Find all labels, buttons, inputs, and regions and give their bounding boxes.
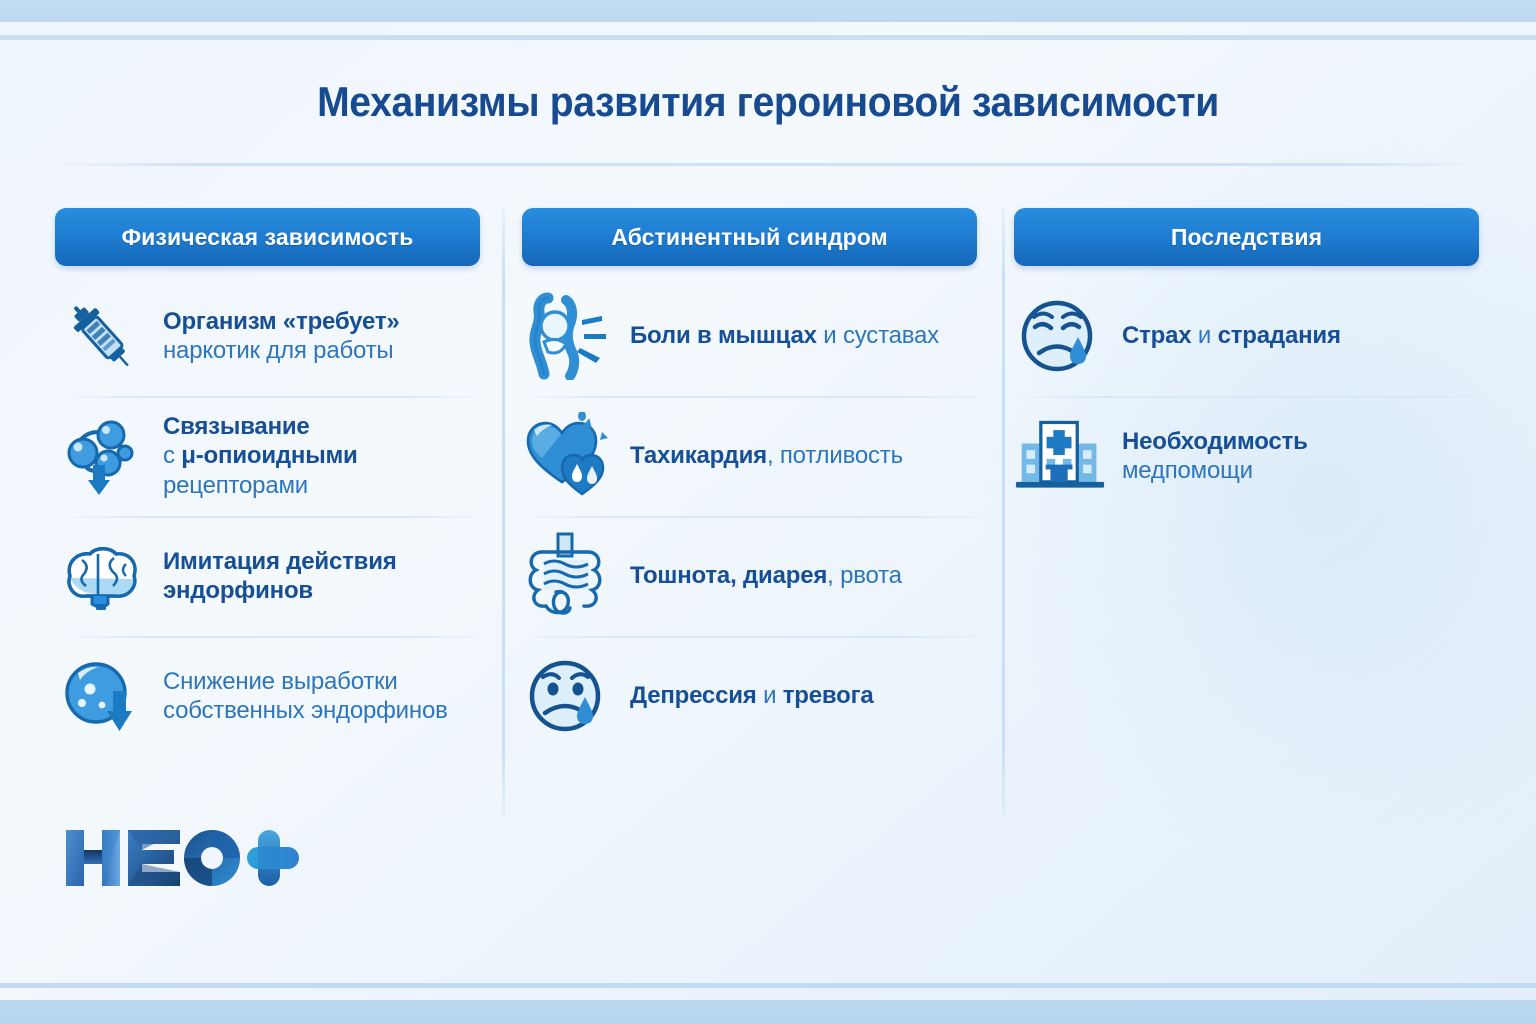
list-item-text: Имитация действияэндорфинов: [163, 547, 397, 605]
column-consequences: Последствия Страх и: [1000, 208, 1536, 756]
list-item[interactable]: Необходимостьмедпомощи: [1014, 396, 1490, 516]
heart-sweat-icon: [522, 410, 614, 502]
intestine-icon: [522, 530, 614, 622]
list-item[interactable]: Имитация действияэндорфинов: [55, 516, 480, 636]
list-item-text: Страх и страдания: [1122, 321, 1341, 350]
sad-face-tear-icon: [522, 650, 614, 742]
list-item-text: Депрессия и тревога: [630, 681, 874, 710]
item-list-consequences: Страх и страдания: [1014, 276, 1490, 516]
list-item[interactable]: Тошнота, диарея, рвота: [522, 516, 982, 636]
list-item[interactable]: Организм «требует»наркотик для работы: [55, 276, 480, 396]
columns-container: Физическая зависимость: [0, 208, 1536, 756]
column-header-withdrawal-syndrome[interactable]: Абстинентный синдром: [522, 208, 977, 266]
brain-icon: [55, 530, 147, 622]
declining-cell-icon: [55, 650, 147, 742]
bottom-decorative-band: [0, 1000, 1536, 1024]
list-item[interactable]: Страх и страдания: [1014, 276, 1490, 396]
top-decorative-band: [0, 0, 1536, 22]
list-item-text: Тахикардия, потливость: [630, 441, 903, 470]
receptor-molecules-icon: [55, 410, 147, 502]
list-item-text: Связываниес μ-опиоиднымирецепторами: [163, 412, 358, 499]
list-item-text: Необходимостьмедпомощи: [1122, 427, 1308, 485]
list-item[interactable]: Боли в мышцах и суставах: [522, 276, 982, 396]
hospital-icon: [1014, 410, 1106, 502]
item-list-physical-dependence: Организм «требует»наркотик для работы: [55, 276, 480, 756]
column-header-physical-dependence[interactable]: Физическая зависимость: [55, 208, 480, 266]
list-item[interactable]: Тахикардия, потливость: [522, 396, 982, 516]
bottom-rule: [0, 983, 1536, 988]
list-item[interactable]: Связываниес μ-опиоиднымирецепторами: [55, 396, 480, 516]
page-title: Механизмы развития героиновой зависимост…: [54, 78, 1482, 126]
item-list-withdrawal-syndrome: Боли в мышцах и суставах: [522, 276, 982, 756]
poster-canvas: Механизмы развития героиновой зависимост…: [0, 0, 1536, 1024]
list-item-text: Тошнота, диарея, рвота: [630, 561, 902, 590]
worried-face-tear-icon: [1014, 290, 1106, 382]
column-withdrawal-syndrome: Абстинентный синдром: [500, 208, 1000, 756]
column-physical-dependence: Физическая зависимость: [0, 208, 500, 756]
column-header-consequences[interactable]: Последствия: [1014, 208, 1479, 266]
list-item-text: Снижение выработкисобственных эндорфинов: [163, 667, 448, 725]
knee-joint-pain-icon: [522, 290, 614, 382]
list-item[interactable]: Депрессия и тревога: [522, 636, 982, 756]
brand-logo[interactable]: [62, 822, 302, 894]
list-item[interactable]: Снижение выработкисобственных эндорфинов: [55, 636, 480, 756]
top-rule: [0, 35, 1536, 40]
list-item-text: Боли в мышцах и суставах: [630, 321, 939, 350]
title-underline-rule: [50, 163, 1486, 166]
list-item-text: Организм «требует»наркотик для работы: [163, 307, 400, 365]
syringe-icon: [55, 290, 147, 382]
